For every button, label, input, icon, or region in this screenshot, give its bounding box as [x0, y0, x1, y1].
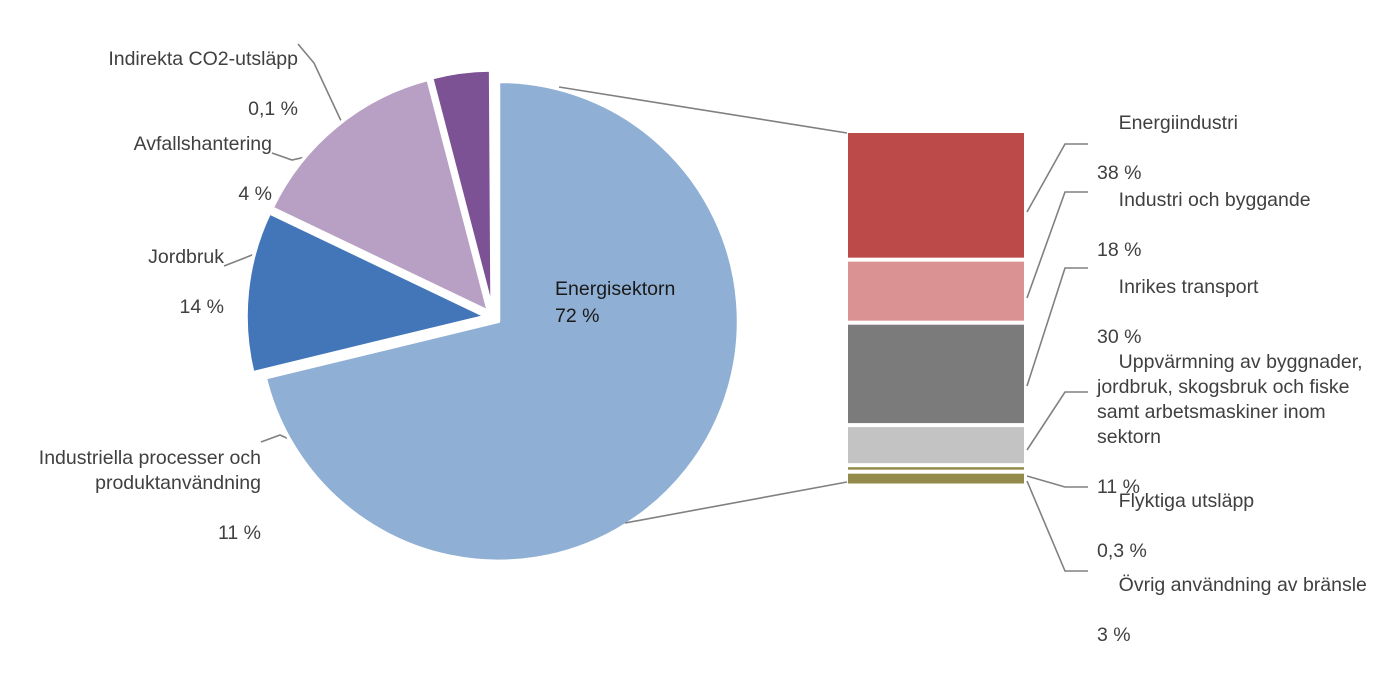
stacked-bar: [848, 133, 1024, 484]
bar-segment-uppvarmning[interactable]: [848, 427, 1024, 463]
pie-label-jordbruk-value: 14 %: [20, 295, 224, 320]
leader-flyktiga: [1027, 476, 1088, 487]
bar-segment-inrikes-transport[interactable]: [848, 325, 1024, 423]
bar-segment-flyktiga[interactable]: [848, 467, 1024, 470]
bar-segment-ovrig[interactable]: [848, 474, 1024, 484]
leader-industri-byggande: [1027, 192, 1088, 298]
bar-label-industri-byggande-name: Industri och byggande: [1119, 189, 1311, 211]
pie-label-industriella-name: Industriella processer och produktanvänd…: [39, 447, 261, 494]
bar-label-flyktiga-name: Flyktiga utsläpp: [1119, 490, 1254, 512]
bar-label-ovrig-value: 3 %: [1097, 623, 1386, 648]
pie-label-avfall-name: Avfallshantering: [134, 133, 272, 155]
pie-label-industriella-value: 11 %: [8, 521, 261, 546]
chart-canvas: Indirekta CO2-utsläpp 0,1 % Avfallshante…: [0, 0, 1386, 617]
pie-label-jordbruk-name: Jordbruk: [148, 246, 224, 268]
bar-segment-industri-byggande[interactable]: [848, 262, 1024, 321]
bar-label-uppvarmning-name: Uppvärmning av byggnader, jordbruk, skog…: [1097, 351, 1363, 448]
pie-label-industriella: Industriella processer och produktanvänd…: [8, 421, 261, 596]
bar-label-ovrig: Övrig användning av bränsle 3 %: [1097, 548, 1386, 698]
pie-label-indirekta-name: Indirekta CO2-utsläpp: [108, 48, 298, 70]
pie-label-energisektorn-name: Energisektorn: [555, 278, 675, 300]
leader-energiindustri: [1027, 144, 1088, 212]
leader-uppvarmning: [1027, 392, 1088, 450]
bar-segment-energiindustri[interactable]: [848, 133, 1024, 258]
leader-ovrig: [1027, 481, 1088, 571]
bar-label-inrikes-transport-name: Inrikes transport: [1119, 276, 1259, 298]
pie-slice-indirekta[interactable]: [491, 70, 492, 310]
bar-label-ovrig-name: Övrig användning av bränsle: [1119, 574, 1367, 596]
leader-inrikes-transport: [1027, 268, 1088, 386]
bar-leader-lines: [1027, 144, 1088, 571]
pie-label-energisektorn-value: 72 %: [555, 303, 675, 330]
pie-label-energisektorn: Energisektorn 72 %: [555, 276, 675, 330]
pie-label-jordbruk: Jordbruk 14 %: [20, 220, 224, 370]
bar-label-energiindustri-name: Energiindustri: [1119, 112, 1238, 134]
pie-label-avfall-value: 4 %: [20, 182, 272, 207]
